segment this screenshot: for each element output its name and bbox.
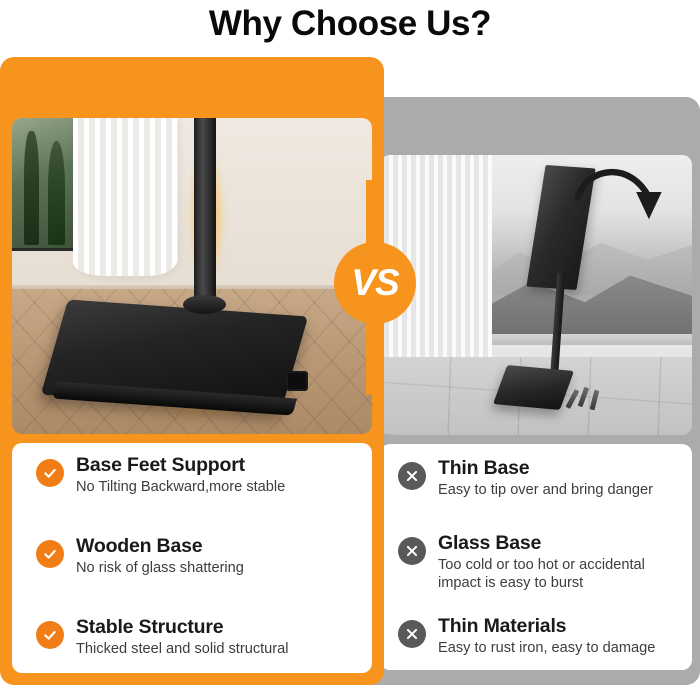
others-feature-text: Glass Base Too cold or too hot or accide… bbox=[438, 533, 690, 592]
x-circle-icon bbox=[398, 537, 426, 565]
ours-feature-item: Base Feet Support No Tilting Backward,mo… bbox=[36, 455, 356, 497]
check-glyph bbox=[42, 627, 58, 643]
ours-feature-text: Wooden Base No risk of glass shattering bbox=[76, 536, 244, 578]
others-product-photo bbox=[380, 155, 692, 435]
ours-feature-subtitle: No Tilting Backward,more stable bbox=[76, 479, 285, 497]
others-feature-subtitle: Too cold or too hot or accidental impact… bbox=[438, 557, 690, 593]
ours-photo-pole-collar bbox=[183, 295, 226, 314]
vs-badge: VS bbox=[334, 242, 416, 324]
others-feature-item: Thin Base Easy to tip over and bring dan… bbox=[398, 458, 684, 500]
others-card: Others bbox=[360, 97, 700, 685]
others-feature-subtitle: Easy to rust iron, easy to damage bbox=[438, 640, 655, 658]
check-circle-icon bbox=[36, 459, 64, 487]
ours-feature-text: Base Feet Support No Tilting Backward,mo… bbox=[76, 455, 285, 497]
check-glyph bbox=[42, 546, 58, 562]
vs-label: VS bbox=[351, 264, 398, 301]
x-circle-icon bbox=[398, 620, 426, 648]
ours-feature-subtitle: Thicked steel and solid structural bbox=[76, 641, 289, 659]
others-feature-text: Thin Materials Easy to rust iron, easy t… bbox=[438, 616, 655, 658]
ours-feature-title: Wooden Base bbox=[76, 536, 244, 558]
others-photo-loose-screws bbox=[570, 387, 601, 412]
others-feature-text: Thin Base Easy to tip over and bring dan… bbox=[438, 458, 653, 500]
comparison-infographic: Why Choose Us? Others bbox=[0, 0, 700, 700]
tipping-arrow-icon bbox=[573, 161, 667, 234]
check-glyph bbox=[42, 465, 58, 481]
ours-feature-subtitle: No risk of glass shattering bbox=[76, 560, 244, 578]
others-feature-item: Thin Materials Easy to rust iron, easy t… bbox=[398, 616, 690, 658]
screw-3 bbox=[589, 390, 599, 410]
ours-feature-title: Base Feet Support bbox=[76, 455, 285, 477]
ours-photo-stand-pole bbox=[194, 118, 216, 308]
others-feature-title: Glass Base bbox=[438, 533, 690, 555]
ours-product-photo bbox=[12, 118, 372, 434]
others-feature-title: Thin Materials bbox=[438, 616, 655, 638]
ours-card: Ours Base Feet Supp bbox=[0, 57, 384, 685]
ours-feature-item: Wooden Base No risk of glass shattering bbox=[36, 536, 356, 578]
others-feature-subtitle: Easy to tip over and bring danger bbox=[438, 482, 653, 500]
x-glyph bbox=[405, 544, 419, 558]
x-glyph bbox=[405, 469, 419, 483]
check-circle-icon bbox=[36, 621, 64, 649]
ours-feature-title: Stable Structure bbox=[76, 617, 289, 639]
others-photo-glass-base bbox=[493, 365, 574, 410]
x-circle-icon bbox=[398, 462, 426, 490]
ours-feature-list: Base Feet Support No Tilting Backward,mo… bbox=[12, 443, 372, 673]
page-title: Why Choose Us? bbox=[0, 4, 700, 44]
ours-feature-item: Stable Structure Thicked steel and solid… bbox=[36, 617, 356, 659]
others-photo-window-sill bbox=[486, 334, 692, 345]
check-circle-icon bbox=[36, 540, 64, 568]
ours-photo-base-foot-tab bbox=[286, 371, 308, 391]
others-feature-title: Thin Base bbox=[438, 458, 653, 480]
others-feature-list: Thin Base Easy to tip over and bring dan… bbox=[380, 444, 692, 670]
ours-feature-text: Stable Structure Thicked steel and solid… bbox=[76, 617, 289, 659]
ours-photo-curtain bbox=[73, 118, 177, 276]
x-glyph bbox=[405, 627, 419, 641]
others-feature-item: Glass Base Too cold or too hot or accide… bbox=[398, 533, 690, 592]
screw-2 bbox=[578, 387, 589, 407]
